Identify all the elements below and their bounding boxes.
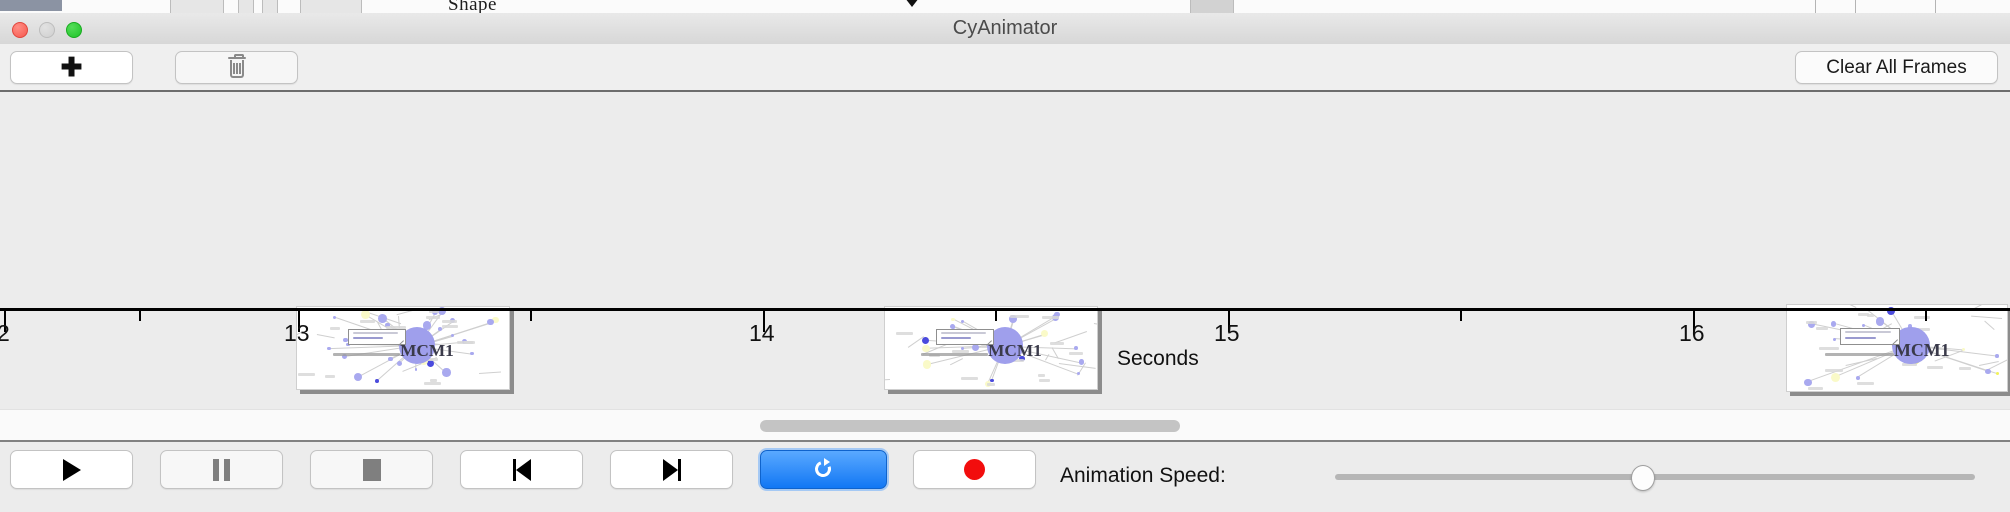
tick-label-15: 15 bbox=[1214, 320, 1240, 347]
network-node-label bbox=[1038, 374, 1045, 377]
network-node-label bbox=[325, 375, 335, 378]
tick-minor-2 bbox=[995, 308, 997, 321]
playback-control-bar: Animation Speed: bbox=[0, 440, 2010, 512]
network-node-label bbox=[442, 320, 457, 323]
network-node bbox=[442, 368, 450, 376]
background-tab-4 bbox=[300, 0, 362, 13]
play-icon bbox=[63, 459, 81, 481]
hub-node-label: MCM1 bbox=[400, 341, 454, 361]
network-node-label bbox=[1069, 352, 1083, 355]
network-node bbox=[1985, 369, 1990, 374]
frame-toolbar: ✚ Clear All Frames bbox=[0, 44, 2010, 92]
network-edge bbox=[950, 358, 963, 365]
network-node bbox=[1077, 372, 1080, 375]
background-tab-1 bbox=[170, 0, 224, 13]
frame-thumbnail[interactable]: MCM1 bbox=[1786, 304, 2008, 392]
network-node bbox=[388, 357, 393, 362]
network-node bbox=[923, 360, 931, 368]
tooltip-text-line bbox=[353, 332, 398, 334]
network-node-label bbox=[1039, 379, 1050, 382]
background-window-strip: Shape bbox=[0, 0, 2010, 14]
timeline-scrollbar[interactable] bbox=[0, 409, 2010, 441]
animation-speed-slider-knob[interactable] bbox=[1631, 465, 1655, 491]
network-node-label bbox=[360, 320, 375, 323]
background-divider-1 bbox=[1815, 0, 1816, 13]
tick-label-14: 14 bbox=[749, 320, 775, 347]
network-node bbox=[354, 373, 362, 381]
axis-label: Seconds bbox=[1117, 347, 1199, 371]
network-node-label bbox=[1914, 316, 1930, 319]
network-edge bbox=[908, 336, 924, 348]
network-node-label bbox=[442, 325, 457, 328]
tick-label-16: 16 bbox=[1679, 320, 1705, 347]
network-node bbox=[1804, 379, 1811, 386]
network-node bbox=[1995, 354, 1999, 358]
network-preview: MCM1 bbox=[296, 306, 510, 390]
network-node-label bbox=[464, 341, 475, 344]
network-node bbox=[990, 379, 994, 383]
network-annotation bbox=[333, 353, 399, 356]
network-node-label bbox=[1808, 387, 1822, 390]
network-node bbox=[343, 338, 347, 342]
skip-back-icon bbox=[513, 459, 531, 481]
loop-button[interactable] bbox=[760, 450, 887, 489]
background-titlebar-chip bbox=[0, 0, 62, 11]
delete-frame-button[interactable] bbox=[175, 51, 298, 84]
network-node-label bbox=[298, 373, 316, 376]
network-node bbox=[1876, 317, 1885, 326]
network-node bbox=[378, 314, 387, 323]
skip-to-end-button[interactable] bbox=[610, 450, 733, 489]
record-icon bbox=[964, 459, 985, 480]
network-node-label bbox=[1858, 313, 1869, 316]
stop-button[interactable] bbox=[310, 450, 433, 489]
network-node-label bbox=[1959, 367, 1971, 370]
network-preview: MCM1 bbox=[884, 306, 1098, 390]
network-edge bbox=[884, 379, 890, 382]
tooltip-text-line bbox=[353, 337, 383, 339]
timeline-panel[interactable]: MCM1MCM1MCM1 2131415161718 Seconds bbox=[0, 92, 2010, 409]
network-node bbox=[1862, 324, 1865, 327]
tick-label-2: 2 bbox=[0, 320, 10, 347]
trash-icon bbox=[228, 57, 246, 78]
background-divider-2 bbox=[1855, 0, 1856, 13]
network-node-label bbox=[1825, 369, 1843, 372]
network-node-label bbox=[961, 377, 978, 380]
network-node bbox=[487, 319, 493, 325]
network-annotation bbox=[1825, 353, 1894, 356]
background-tab-2 bbox=[238, 0, 254, 13]
tick-minor-3 bbox=[1460, 308, 1462, 321]
network-node bbox=[1856, 376, 1860, 380]
network-node bbox=[333, 316, 336, 319]
play-button[interactable] bbox=[10, 450, 133, 489]
tick-minor-0 bbox=[139, 308, 141, 321]
tick-minor-4 bbox=[1925, 308, 1927, 321]
animation-speed-slider[interactable] bbox=[1335, 474, 1975, 480]
network-node-label bbox=[1010, 315, 1029, 318]
network-node-label bbox=[424, 382, 441, 385]
network-preview: MCM1 bbox=[1786, 304, 2008, 392]
pause-icon bbox=[213, 459, 230, 481]
network-node bbox=[438, 327, 442, 331]
network-node bbox=[375, 379, 379, 383]
network-annotation bbox=[921, 353, 987, 356]
hub-node-label: MCM1 bbox=[1894, 340, 1950, 361]
plus-icon: ✚ bbox=[61, 54, 83, 80]
network-node bbox=[1833, 338, 1836, 341]
add-frame-button[interactable]: ✚ bbox=[10, 51, 133, 84]
network-node bbox=[415, 368, 418, 371]
clear-all-frames-label: Clear All Frames bbox=[1826, 57, 1966, 79]
network-node bbox=[1831, 321, 1836, 326]
network-node bbox=[361, 310, 370, 319]
cyanimator-window: Shape CyAnimator ✚ Clear All Frames MCM1… bbox=[0, 0, 2010, 510]
network-edge bbox=[479, 371, 501, 373]
network-node bbox=[922, 345, 929, 352]
tooltip-text-line bbox=[941, 332, 986, 334]
background-window-label: Shape bbox=[448, 0, 497, 14]
tick-label-13: 13 bbox=[284, 320, 310, 347]
timeline-scrollbar-thumb[interactable] bbox=[760, 420, 1180, 432]
tick-minor-1 bbox=[530, 308, 532, 321]
network-node-label bbox=[426, 316, 440, 319]
network-edge bbox=[317, 334, 334, 338]
network-node-label bbox=[896, 332, 913, 335]
network-edge bbox=[1984, 320, 1995, 330]
title-bar: CyAnimator bbox=[0, 13, 2010, 45]
tooltip-text-line bbox=[941, 337, 971, 339]
network-node-label bbox=[987, 383, 995, 386]
frame-thumbnail[interactable]: MCM1 bbox=[296, 306, 510, 390]
network-node bbox=[1996, 372, 1999, 375]
background-tab-5 bbox=[1190, 0, 1234, 13]
network-node bbox=[1831, 373, 1840, 382]
tooltip-text-line bbox=[1845, 337, 1876, 339]
hub-node-label: MCM1 bbox=[988, 341, 1042, 361]
network-node bbox=[922, 337, 930, 345]
background-caret-icon bbox=[905, 0, 919, 7]
animation-speed-label: Animation Speed: bbox=[1060, 464, 1226, 488]
loop-icon bbox=[813, 459, 835, 481]
clear-all-frames-button[interactable]: Clear All Frames bbox=[1795, 51, 1998, 84]
network-node-label bbox=[1857, 382, 1873, 385]
network-node-label bbox=[1927, 366, 1943, 369]
network-node bbox=[397, 361, 402, 366]
background-divider-3 bbox=[1935, 0, 1936, 13]
skip-to-start-button[interactable] bbox=[460, 450, 583, 489]
network-node-label bbox=[1819, 347, 1839, 350]
stop-icon bbox=[363, 459, 381, 481]
network-edge bbox=[1971, 315, 2002, 318]
record-button[interactable] bbox=[913, 450, 1036, 489]
network-node-label bbox=[1816, 327, 1827, 330]
network-node bbox=[451, 334, 454, 337]
pause-button[interactable] bbox=[160, 450, 283, 489]
network-node-label bbox=[1806, 321, 1817, 324]
frame-thumbnail[interactable]: MCM1 bbox=[884, 306, 1098, 390]
network-edge bbox=[1094, 323, 1098, 328]
network-node-label bbox=[330, 327, 341, 330]
skip-forward-icon bbox=[663, 459, 681, 481]
timeline-axis bbox=[0, 308, 2010, 311]
network-node bbox=[1074, 346, 1078, 350]
network-node-label bbox=[1050, 342, 1064, 345]
network-node bbox=[327, 347, 330, 350]
background-tab-3 bbox=[262, 0, 278, 13]
window-title: CyAnimator bbox=[0, 13, 2010, 44]
network-node bbox=[470, 352, 473, 355]
